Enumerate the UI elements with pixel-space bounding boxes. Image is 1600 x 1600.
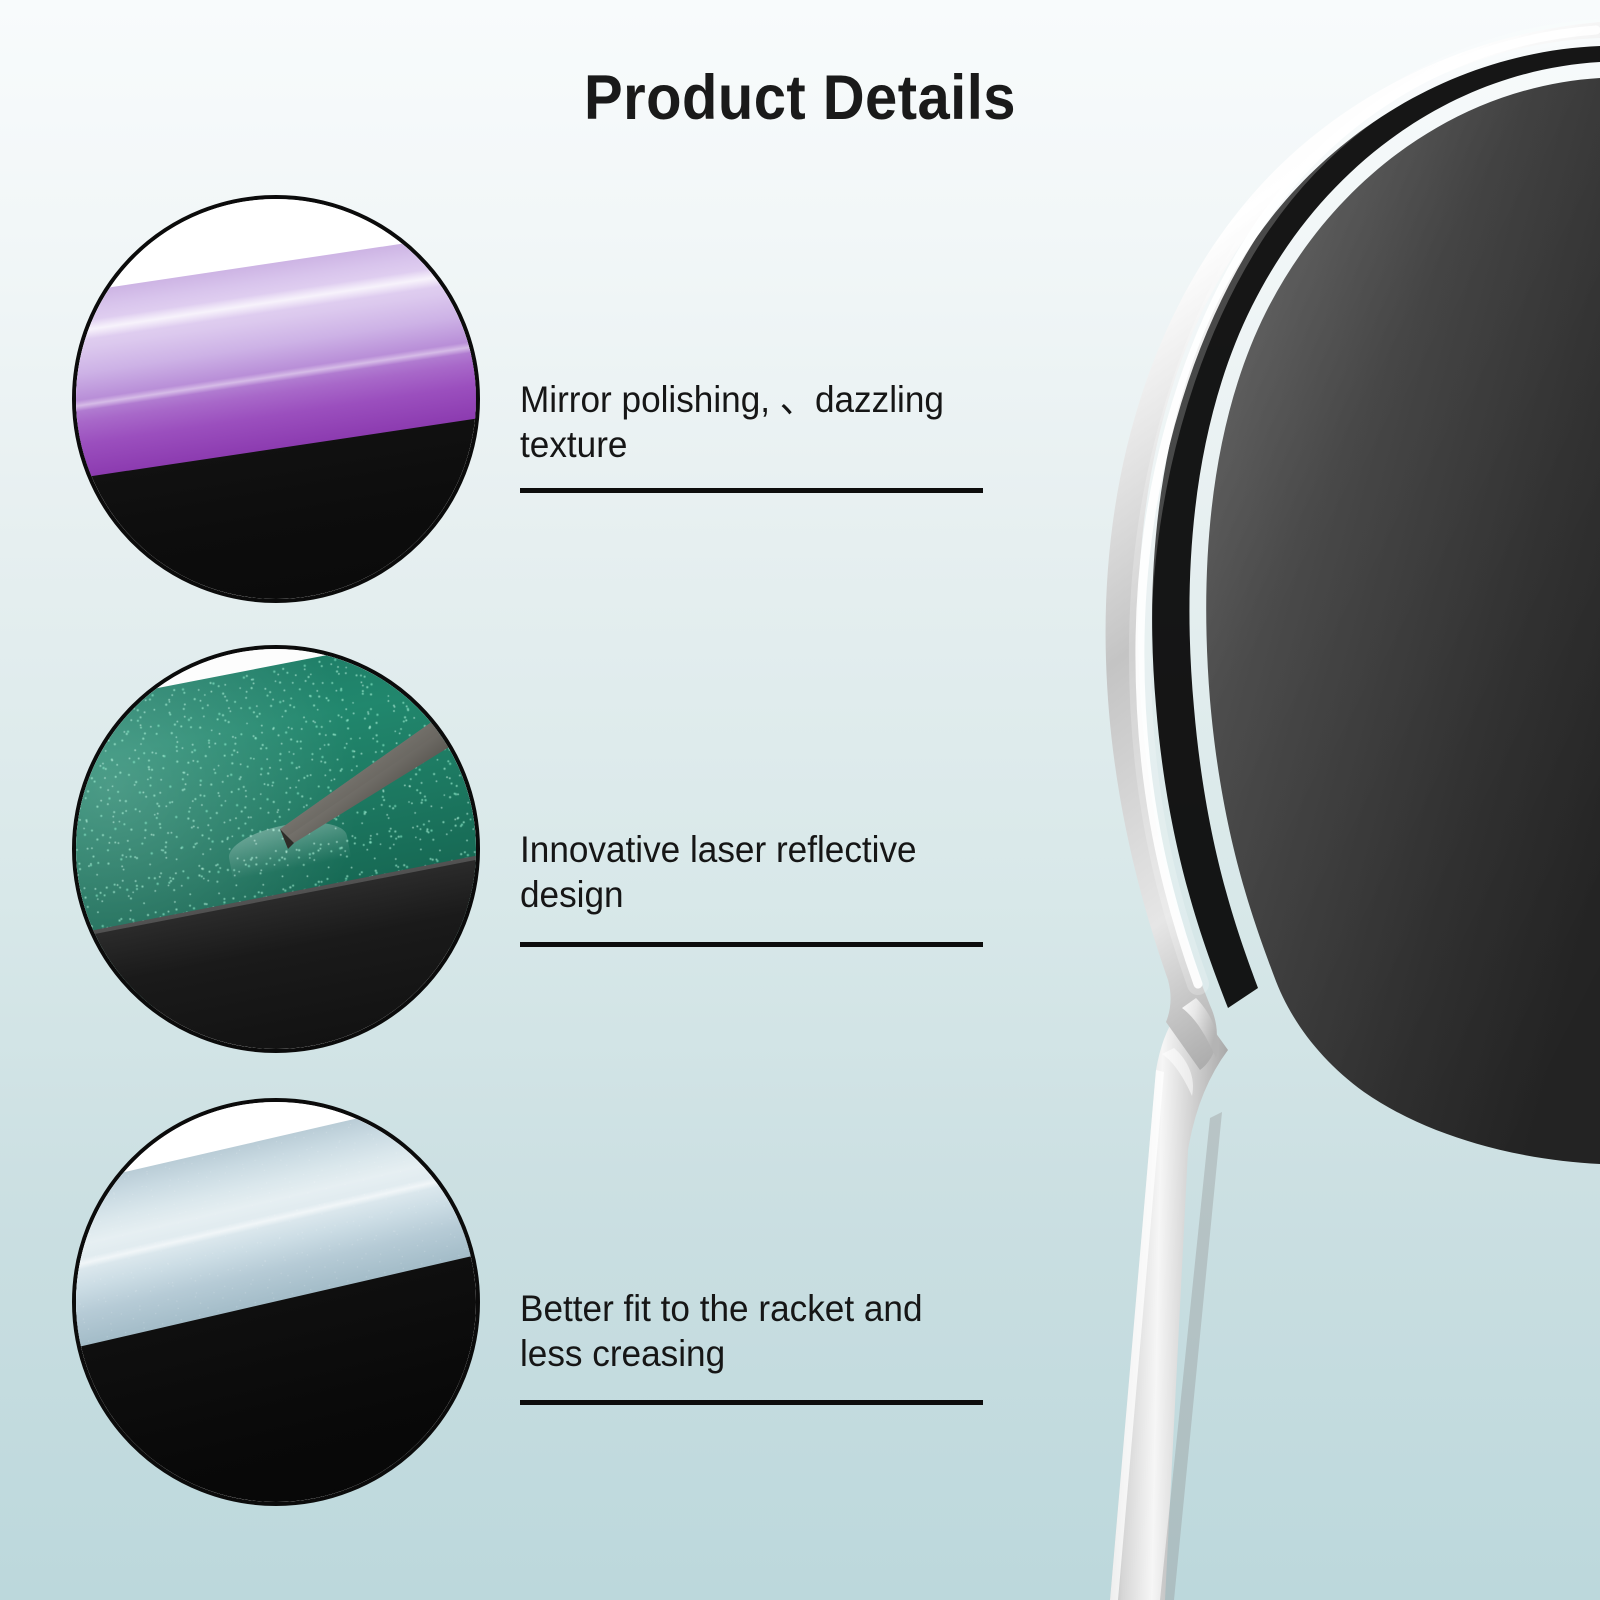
- feature-label-mirror-polishing: Mirror polishing, 、dazzling texture: [520, 377, 967, 467]
- edge-tape-glow: [1140, 30, 1596, 984]
- purple-mirror-edge-image: [76, 199, 476, 599]
- paddle-handle: [1110, 1000, 1228, 1600]
- feature-photo-purple-mirror-edge: [72, 195, 480, 603]
- paddle-edge-shadow-line: [1152, 46, 1600, 1008]
- paddle-neck-fold: [1182, 998, 1218, 1058]
- paddle-face-sheen: [1206, 78, 1600, 1164]
- edge-tape-specular-highlight: [1140, 30, 1596, 984]
- feature-label-better-fit: Better fit to the racket and less creasi…: [520, 1286, 967, 1376]
- handle-edge-shade: [1160, 1112, 1222, 1600]
- page-title: Product Details: [64, 62, 1536, 134]
- feature-divider-3: [520, 1400, 983, 1405]
- paddle-neck-fold-highlight: [1162, 1048, 1193, 1096]
- paddle-edge-tape: [1106, 22, 1600, 1070]
- blue-silver-edge-image: [76, 1102, 476, 1502]
- product-image-pickleball-paddle: [960, 0, 1600, 1600]
- feature-photo-blue-silver-edge: [72, 1098, 480, 1506]
- paddle-blade-face: [1206, 78, 1600, 1164]
- feature-divider-2: [520, 942, 983, 947]
- feature-photo-green-glitter: [72, 645, 480, 1053]
- handle-edge-highlight: [1110, 1070, 1164, 1600]
- green-glitter-film-image: [76, 649, 476, 1049]
- feature-divider-1: [520, 488, 983, 493]
- feature-label-laser-reflective: Innovative laser reflective design: [520, 827, 967, 917]
